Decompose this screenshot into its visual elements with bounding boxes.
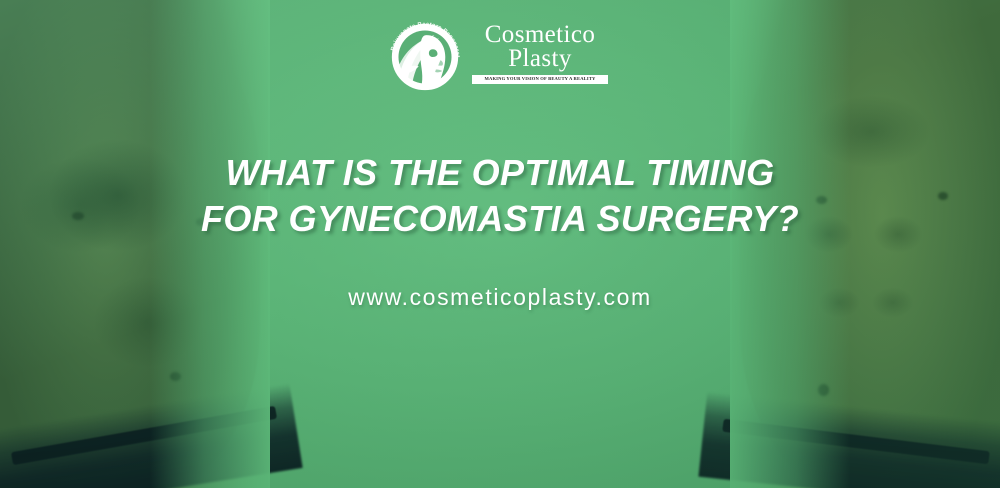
website-url[interactable]: www.cosmeticoplasty.com xyxy=(0,284,1000,311)
wordmark-line-1: Cosmetico xyxy=(485,23,596,47)
headline-line-1: WHAT IS THE OPTIMAL TIMING xyxy=(0,150,1000,196)
tagline-band: MAKING YOUR VISION OF BEAUTY A REALITY xyxy=(472,75,608,84)
brand-logo[interactable]: Rejuvenate Restore Regenerate Reconstruc… xyxy=(386,18,612,104)
wordmark-line-2: Plasty xyxy=(508,47,572,71)
brand-wordmark: Cosmetico Plasty MAKING YOUR VISION OF B… xyxy=(472,18,608,84)
woman-face-circle-emblem-icon: Rejuvenate Restore Regenerate Reconstruc… xyxy=(386,18,464,96)
gynecomastia-promo-banner: Rejuvenate Restore Regenerate Reconstruc… xyxy=(0,0,1000,488)
page-title: WHAT IS THE OPTIMAL TIMING FOR GYNECOMAS… xyxy=(0,150,1000,242)
brand-tagline: MAKING YOUR VISION OF BEAUTY A REALITY xyxy=(478,77,602,82)
headline-line-2: FOR GYNECOMASTIA SURGERY? xyxy=(0,196,1000,242)
